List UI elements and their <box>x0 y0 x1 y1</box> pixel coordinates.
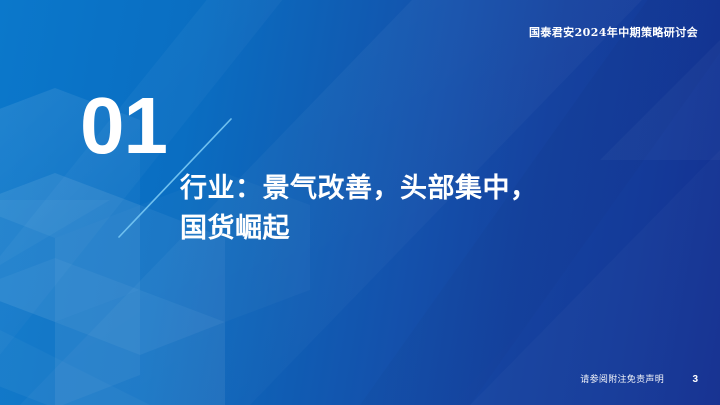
section-title: 行业：景气改善，头部集中， 国货崛起 <box>180 168 680 248</box>
slide-footer: 请参阅附注免责声明 3 <box>580 372 698 385</box>
page-number: 3 <box>690 374 698 385</box>
section-title-line-2: 国货崛起 <box>180 208 680 248</box>
disclaimer-note: 请参阅附注免责声明 <box>580 372 664 385</box>
presentation-slide: 国泰君安2024年中期策略研讨会 01 行业：景气改善，头部集中， 国货崛起 请… <box>0 0 720 405</box>
section-title-line-1: 行业：景气改善，头部集中， <box>180 168 680 208</box>
